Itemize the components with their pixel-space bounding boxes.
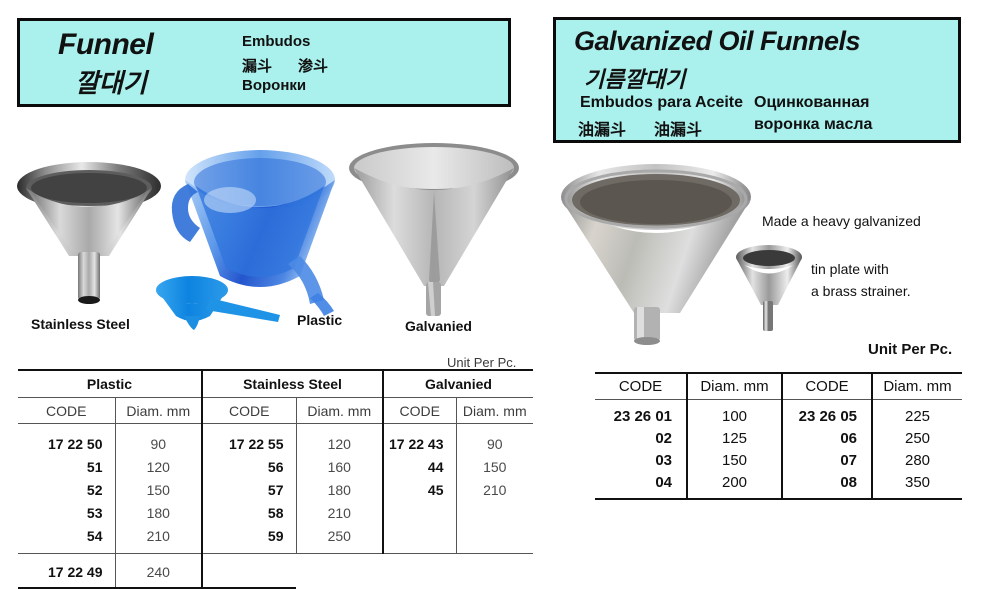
table-row: 23 26 01 100 23 26 05 225 — [595, 400, 962, 428]
cell-diam: 250 — [296, 524, 383, 554]
cell-diam: 250 — [872, 427, 962, 449]
table-row: 04 200 08 350 — [595, 471, 962, 499]
cell-diam: 120 — [115, 455, 202, 478]
cell-diam: 210 — [456, 478, 533, 501]
funnel-plastic-small-icon — [152, 274, 287, 332]
right-banner-spanish: Embudos para Aceite — [580, 94, 743, 112]
cell-code: 53 — [18, 501, 115, 524]
cell-code-footer: 17 22 49 — [18, 554, 115, 589]
note-line-3: a brass strainer. — [811, 283, 911, 299]
cell-diam: 100 — [687, 400, 782, 428]
right-banner-chinese: 油漏斗油漏斗 — [578, 116, 702, 140]
right-header-banner: Galvanized Oil Funnels 기름깔대기 Embudos par… — [553, 17, 961, 143]
cell-code: 04 — [595, 471, 687, 499]
cell-diam: 90 — [456, 424, 533, 456]
left-banner-chinese-1: 漏斗 — [242, 55, 272, 76]
cell-empty — [383, 554, 456, 589]
col-header-code-plastic: CODE — [18, 398, 115, 424]
table-row: 53 180 58 210 — [18, 501, 533, 524]
cell-diam: 150 — [687, 449, 782, 471]
cell-diam: 125 — [687, 427, 782, 449]
cell-code: 17 22 55 — [202, 424, 296, 456]
cell-diam: 200 — [687, 471, 782, 499]
cell-code: 52 — [18, 478, 115, 501]
cell-code: 08 — [782, 471, 872, 499]
cell-diam: 210 — [115, 524, 202, 554]
left-banner-russian: Воронки — [242, 77, 306, 94]
right-banner-russian-line1: Оцинкованная — [754, 94, 869, 112]
note-line-1: Made a heavy galvanized — [762, 213, 921, 229]
cell-code: 23 26 05 — [782, 400, 872, 428]
left-banner-spanish: Embudos — [242, 33, 310, 50]
col-header-diam-1: Diam. mm — [687, 373, 782, 400]
col-header-diam-plastic: Diam. mm — [115, 398, 202, 424]
table-column-header-row: CODE Diam. mm CODE Diam. mm CODE Diam. m… — [18, 398, 533, 424]
left-banner-chinese: 漏斗渗斗 — [242, 55, 328, 76]
cell-empty — [202, 554, 296, 589]
funnel-oil-small-icon — [733, 243, 805, 333]
cell-diam: 225 — [872, 400, 962, 428]
cell-empty — [456, 554, 533, 589]
cell-diam: 120 — [296, 424, 383, 456]
cell-code: 59 — [202, 524, 296, 554]
caption-galvanied: Galvanied — [405, 318, 472, 334]
table-row: 17 22 50 90 17 22 55 120 17 22 43 90 — [18, 424, 533, 456]
unit-note-right: Unit Per Pc. — [868, 341, 952, 358]
cell-code: 44 — [383, 455, 456, 478]
cell-code: 57 — [202, 478, 296, 501]
cell-code: 07 — [782, 449, 872, 471]
caption-stainless-steel: Stainless Steel — [31, 316, 130, 332]
left-banner-chinese-2: 渗斗 — [298, 55, 328, 76]
cell-diam-footer: 240 — [115, 554, 202, 589]
cell-code: 02 — [595, 427, 687, 449]
cell-code: 17 22 50 — [18, 424, 115, 456]
group-header-stainless: Stainless Steel — [202, 370, 383, 398]
group-header-plastic: Plastic — [18, 370, 202, 398]
col-header-diam-stainless: Diam. mm — [296, 398, 383, 424]
col-header-diam-galvanied: Diam. mm — [456, 398, 533, 424]
right-banner-title: Galvanized Oil Funnels — [574, 26, 860, 57]
table-row: 02 125 06 250 — [595, 427, 962, 449]
col-header-code-stainless: CODE — [202, 398, 296, 424]
table-group-header-row: Plastic Stainless Steel Galvanied — [18, 370, 533, 398]
funnel-stainless-icon — [14, 152, 164, 312]
cell-diam — [456, 501, 533, 524]
left-banner-korean: 깔대기 — [75, 63, 147, 100]
cell-empty — [296, 554, 383, 589]
col-header-code-1: CODE — [595, 373, 687, 400]
cell-diam: 280 — [872, 449, 962, 471]
cell-diam: 350 — [872, 471, 962, 499]
cell-diam: 150 — [456, 455, 533, 478]
cell-diam: 180 — [296, 478, 383, 501]
cell-diam: 90 — [115, 424, 202, 456]
cell-code: 06 — [782, 427, 872, 449]
note-line-2: tin plate with — [811, 261, 889, 277]
caption-plastic: Plastic — [297, 312, 342, 328]
cell-code — [383, 524, 456, 554]
left-banner-title: Funnel — [58, 28, 153, 62]
table-row: 51 120 56 160 44 150 — [18, 455, 533, 478]
cell-diam: 210 — [296, 501, 383, 524]
group-header-galvanied: Galvanied — [383, 370, 533, 398]
table-row: 52 150 57 180 45 210 — [18, 478, 533, 501]
right-banner-korean: 기름깔대기 — [584, 62, 685, 94]
col-header-code-galvanied: CODE — [383, 398, 456, 424]
cell-code: 23 26 01 — [595, 400, 687, 428]
right-banner-chinese-1: 油漏斗 — [578, 122, 626, 139]
cell-code: 56 — [202, 455, 296, 478]
cell-diam: 160 — [296, 455, 383, 478]
cell-diam — [456, 524, 533, 554]
right-banner-chinese-2: 油漏斗 — [654, 122, 702, 139]
cell-code: 03 — [595, 449, 687, 471]
cell-code — [383, 501, 456, 524]
right-products-table: CODE Diam. mm CODE Diam. mm 23 26 01 100… — [595, 372, 962, 500]
cell-code: 51 — [18, 455, 115, 478]
cell-code: 58 — [202, 501, 296, 524]
cell-code: 17 22 43 — [383, 424, 456, 456]
cell-code: 45 — [383, 478, 456, 501]
funnel-oil-large-icon — [558, 155, 758, 345]
table-footer-row: 17 22 49 240 — [18, 554, 533, 589]
cell-diam: 150 — [115, 478, 202, 501]
cell-code: 54 — [18, 524, 115, 554]
table-column-header-row: CODE Diam. mm CODE Diam. mm — [595, 373, 962, 400]
col-header-code-2: CODE — [782, 373, 872, 400]
cell-diam: 180 — [115, 501, 202, 524]
unit-note-left: Unit Per Pc. — [447, 355, 516, 370]
funnel-galvanized-icon — [344, 140, 524, 318]
table-row: 03 150 07 280 — [595, 449, 962, 471]
right-banner-russian-line2: воронка масла — [754, 116, 872, 134]
col-header-diam-2: Diam. mm — [872, 373, 962, 400]
left-header-banner: Funnel 깔대기 Embudos 漏斗渗斗 Воронки — [17, 18, 511, 107]
table-row: 54 210 59 250 — [18, 524, 533, 554]
left-products-table: Plastic Stainless Steel Galvanied CODE D… — [18, 369, 533, 589]
